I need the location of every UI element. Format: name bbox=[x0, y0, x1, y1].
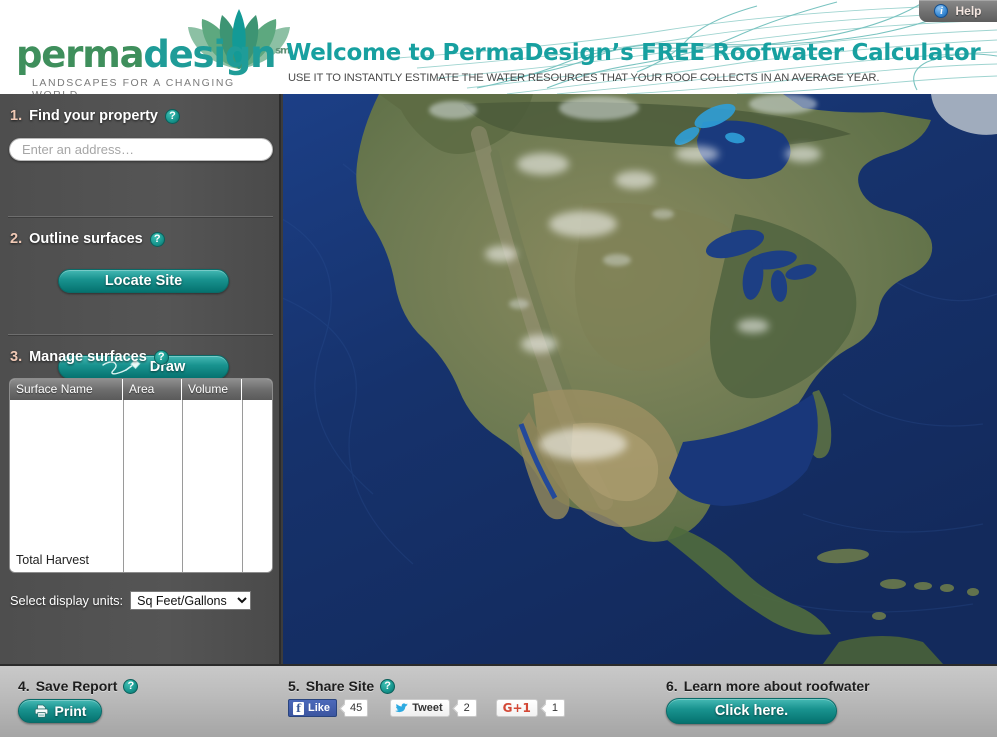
step3-number: 3. bbox=[10, 349, 22, 365]
step1-help-icon[interactable]: ? bbox=[165, 109, 180, 124]
step3-title: Manage surfaces bbox=[29, 349, 147, 365]
step6-title: Learn more about roofwater bbox=[684, 678, 870, 694]
brand-name-design: design bbox=[143, 33, 275, 76]
google-plus-button[interactable]: G+1 bbox=[496, 699, 538, 717]
learn-more-button[interactable]: Click here. bbox=[666, 698, 837, 724]
column-header-volume: Volume bbox=[182, 379, 242, 400]
brand-logo[interactable]: permadesignsm LANDSCAPES FOR A CHANGING … bbox=[14, 5, 282, 89]
step4-title: Save Report bbox=[36, 678, 118, 694]
twitter-tweet-count: 2 bbox=[457, 699, 477, 717]
twitter-bird-icon bbox=[395, 703, 408, 714]
google-plus-count: 1 bbox=[545, 699, 565, 717]
column-header-actions bbox=[242, 379, 272, 400]
step2-number: 2. bbox=[10, 231, 22, 247]
step4-help-icon[interactable]: ? bbox=[123, 679, 138, 694]
roofwater-calculator-app: permadesignsm LANDSCAPES FOR A CHANGING … bbox=[0, 0, 997, 737]
facebook-like-label: Like bbox=[308, 702, 330, 714]
print-button-label: Print bbox=[55, 703, 87, 719]
column-header-area: Area bbox=[123, 379, 182, 400]
step5-title: Share Site bbox=[306, 678, 374, 694]
step1-number: 1. bbox=[10, 108, 22, 124]
step3-help-icon[interactable]: ? bbox=[154, 350, 169, 365]
google-plus-icon: G+1 bbox=[503, 701, 531, 715]
step5-number: 5. bbox=[288, 678, 300, 694]
surfaces-table-body[interactable]: Total Harvest bbox=[10, 400, 272, 572]
total-harvest-label: Total Harvest bbox=[10, 553, 123, 567]
help-button-label: Help bbox=[955, 4, 981, 18]
brand-name-perma: perma bbox=[16, 33, 143, 76]
step4-number: 4. bbox=[18, 678, 30, 694]
column-header-surface-name: Surface Name bbox=[10, 379, 123, 400]
twitter-tweet-button[interactable]: Tweet bbox=[390, 699, 449, 717]
step6-number: 6. bbox=[666, 678, 678, 694]
control-sidebar: 1. Find your property ? Locate Site 2. O… bbox=[0, 94, 281, 664]
step4-heading: 4. Save Report ? bbox=[18, 678, 138, 694]
surfaces-table-header: Surface Name Area Volume bbox=[10, 379, 272, 400]
address-input[interactable] bbox=[9, 138, 273, 161]
printer-icon bbox=[34, 704, 49, 718]
help-button[interactable]: i Help bbox=[919, 0, 997, 22]
brand-tagline: LANDSCAPES FOR A CHANGING WORLD bbox=[32, 77, 282, 94]
step2-title: Outline surfaces bbox=[29, 231, 143, 247]
learn-more-label: Click here. bbox=[715, 703, 788, 719]
social-share-row: f Like 45 Tweet 2 G+1 1 bbox=[288, 699, 565, 717]
step5-heading: 5. Share Site ? bbox=[288, 678, 395, 694]
page-footer: 4. Save Report ? Print 5. Share Site ? f… bbox=[0, 664, 997, 737]
table-column-divider-1 bbox=[123, 400, 124, 572]
locate-site-button[interactable]: Locate Site bbox=[58, 269, 229, 293]
facebook-icon: f bbox=[293, 702, 304, 715]
locate-site-label: Locate Site bbox=[105, 273, 182, 289]
print-button[interactable]: Print bbox=[18, 699, 102, 723]
satellite-map[interactable] bbox=[283, 94, 997, 664]
step2-heading: 2. Outline surfaces ? bbox=[10, 231, 165, 247]
table-column-divider-3 bbox=[242, 400, 243, 572]
facebook-like-count: 45 bbox=[344, 699, 368, 717]
display-units-select[interactable]: Sq Feet/Gallons bbox=[130, 591, 251, 610]
step1-heading: 1. Find your property ? bbox=[10, 108, 180, 124]
facebook-like-button[interactable]: f Like bbox=[288, 699, 337, 717]
brand-wordmark: permadesignsm bbox=[16, 33, 289, 76]
twitter-tweet-label: Tweet bbox=[412, 702, 442, 714]
step1-title: Find your property bbox=[29, 108, 158, 124]
step6-heading: 6. Learn more about roofwater bbox=[666, 678, 870, 694]
page-title: Welcome to PermaDesign’s FREE Roofwater … bbox=[286, 40, 980, 66]
display-units-row: Select display units: Sq Feet/Gallons bbox=[10, 591, 251, 610]
surfaces-table: Surface Name Area Volume Total Harvest bbox=[9, 378, 273, 573]
step5-help-icon[interactable]: ? bbox=[380, 679, 395, 694]
sidebar-divider-1 bbox=[8, 216, 273, 218]
info-circle-icon: i bbox=[934, 4, 948, 18]
map-imagery bbox=[283, 94, 997, 664]
step3-heading: 3. Manage surfaces ? bbox=[10, 349, 169, 365]
sidebar-divider-2 bbox=[8, 334, 273, 336]
page-header: permadesignsm LANDSCAPES FOR A CHANGING … bbox=[0, 0, 997, 94]
display-units-label: Select display units: bbox=[10, 593, 123, 608]
page-subtitle: USE IT TO INSTANTLY ESTIMATE THE WATER R… bbox=[288, 72, 879, 84]
step2-help-icon[interactable]: ? bbox=[150, 232, 165, 247]
table-column-divider-2 bbox=[182, 400, 183, 572]
